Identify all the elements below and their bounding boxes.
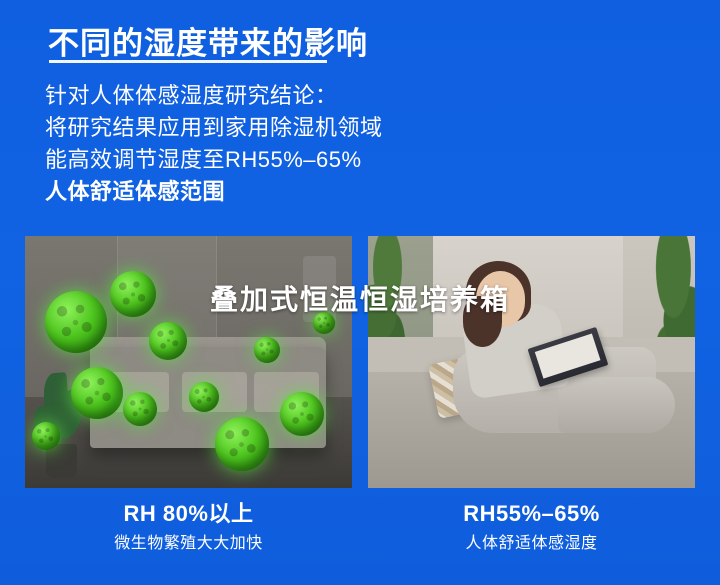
microbe-icon <box>110 271 156 317</box>
body-line-2: 将研究结果应用到家用除湿机领域 <box>45 112 685 144</box>
microbe-icon <box>280 392 324 436</box>
microbe-icon <box>215 417 269 471</box>
photo-row <box>25 236 695 488</box>
caption-right-sub: 人体舒适体感湿度 <box>368 532 695 556</box>
room-scene-illustration <box>25 236 352 488</box>
caption-left-main: RH 80%以上 <box>25 500 352 528</box>
title-underline <box>49 60 327 63</box>
woman-hair-strand <box>463 296 502 346</box>
lounge-scene-illustration <box>368 236 695 488</box>
body-line-1: 针对人体体感湿度研究结论： <box>45 80 685 112</box>
microbe-icon <box>71 367 123 419</box>
microbe-icon <box>189 382 219 412</box>
body-line-3: 能高效调节湿度至RH55%–65% <box>45 144 685 176</box>
caption-row: RH 80%以上 微生物繁殖大大加快 RH55%–65% 人体舒适体感湿度 <box>25 500 695 556</box>
microbe-icon <box>32 422 60 450</box>
caption-left-sub: 微生物繁殖大大加快 <box>25 532 352 556</box>
photo-dark-room-with-microbes <box>25 236 352 488</box>
caption-left: RH 80%以上 微生物繁殖大大加快 <box>25 500 352 556</box>
page-title: 不同的湿度带来的影响 <box>48 18 368 63</box>
microbe-icon <box>254 337 280 363</box>
caption-right: RH55%–65% 人体舒适体感湿度 <box>368 500 695 556</box>
body-line-4: 人体舒适体感范围 <box>45 176 685 208</box>
microbe-icon <box>313 312 335 334</box>
caption-right-main: RH55%–65% <box>368 500 695 528</box>
microbe-icon <box>45 291 107 353</box>
microbe-icon <box>149 322 187 360</box>
poster-root: 不同的湿度带来的影响 针对人体体感湿度研究结论： 将研究结果应用到家用除湿机领域… <box>0 0 720 585</box>
body-text-block: 针对人体体感湿度研究结论： 将研究结果应用到家用除湿机领域 能高效调节湿度至RH… <box>45 80 685 208</box>
woman-legs <box>558 377 676 432</box>
photo-woman-reading-on-sofa <box>368 236 695 488</box>
